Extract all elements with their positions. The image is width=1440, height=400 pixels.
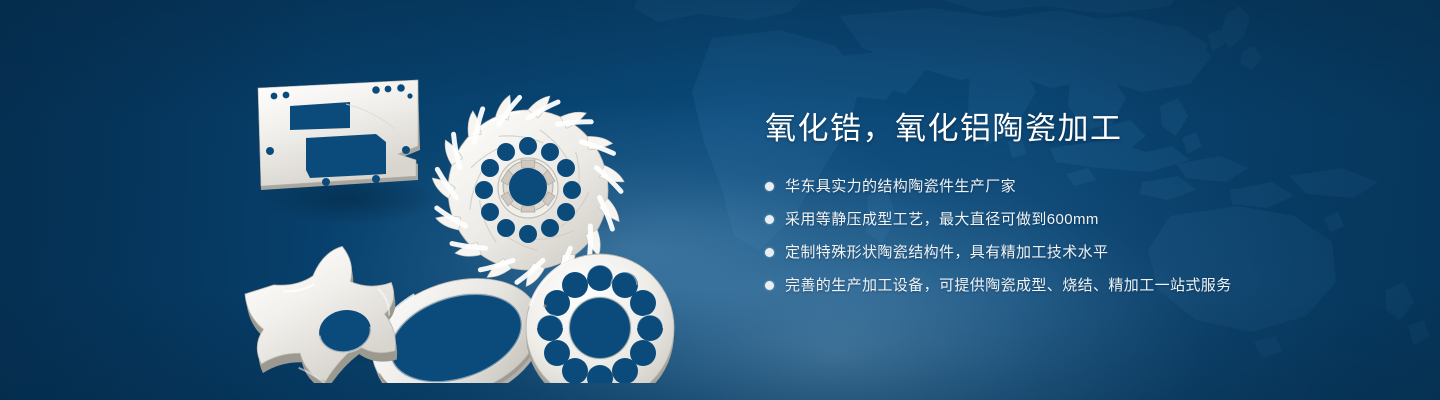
ceramic-cross-plate	[240, 239, 409, 383]
product-showcase	[228, 38, 698, 383]
feature-text: 采用等静压成型工艺，最大直径可做到600mm	[785, 209, 1099, 230]
promo-banner: 氧化锆，氧化铝陶瓷加工 华东具实力的结构陶瓷件生产厂家 采用等静压成型工艺，最大…	[0, 0, 1440, 400]
feature-text: 定制特殊形状陶瓷结构件，具有精加工技术水平	[785, 242, 1108, 263]
page-title: 氧化锆，氧化铝陶瓷加工	[765, 108, 1385, 150]
banner-copy: 氧化锆，氧化铝陶瓷加工 华东具实力的结构陶瓷件生产厂家 采用等静压成型工艺，最大…	[765, 108, 1385, 308]
bullet-dot-icon	[765, 182, 774, 191]
list-item: 定制特殊形状陶瓷结构件，具有精加工技术水平	[765, 242, 1385, 263]
list-item: 华东具实力的结构陶瓷件生产厂家	[765, 176, 1385, 197]
list-item: 完善的生产加工设备，可提供陶瓷成型、烧结、精加工一站式服务	[765, 275, 1385, 296]
feature-text: 华东具实力的结构陶瓷件生产厂家	[785, 176, 1016, 197]
bullet-dot-icon	[765, 248, 774, 257]
feature-list: 华东具实力的结构陶瓷件生产厂家 采用等静压成型工艺，最大直径可做到600mm 定…	[765, 176, 1385, 296]
feature-text: 完善的生产加工设备，可提供陶瓷成型、烧结、精加工一站式服务	[785, 275, 1232, 296]
bullet-dot-icon	[765, 281, 774, 290]
ceramic-base-plate	[258, 80, 420, 190]
ceramic-perforated-disc	[526, 254, 674, 383]
bullet-dot-icon	[765, 215, 774, 224]
list-item: 采用等静压成型工艺，最大直径可做到600mm	[765, 209, 1385, 230]
